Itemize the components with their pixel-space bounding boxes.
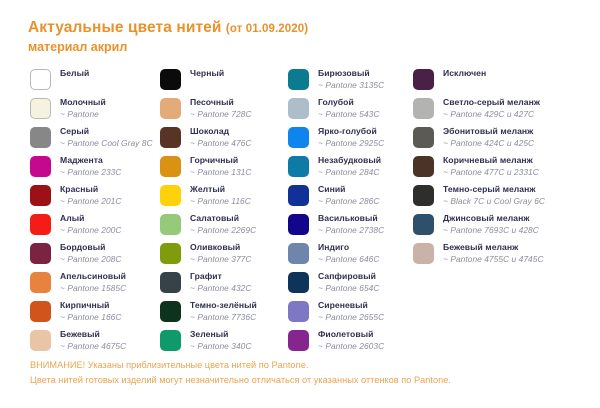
color-column-2: ЧерныйПесочный~ Pantone 728CШоколад~ Pan…	[160, 68, 288, 358]
color-pantone-code: ~ Pantone 432C	[190, 283, 251, 294]
color-swatch	[413, 69, 434, 90]
color-row: Белый	[30, 68, 160, 97]
color-labels: Песочный~ Pantone 728C	[190, 97, 251, 120]
color-swatch	[160, 185, 181, 206]
color-swatch	[30, 156, 51, 177]
color-column-1: БелыйМолочный~ Pantone Серый~ Pantone Co…	[0, 68, 160, 358]
color-pantone-code: ~ Pantone 340C	[190, 341, 251, 352]
color-row: Молочный~ Pantone	[30, 97, 160, 126]
color-row: Черный	[160, 68, 288, 97]
color-labels: Сапфировый~ Pantone 654C	[318, 271, 379, 294]
color-name: Бирюзовый	[318, 68, 384, 79]
color-swatch	[413, 243, 434, 264]
color-swatch	[160, 243, 181, 264]
color-row: Горчичный~ Pantone 131C	[160, 155, 288, 184]
color-swatch	[413, 98, 434, 119]
color-row: Сиреневый~ Pantone 2655C	[288, 300, 413, 329]
color-row: Бежевый~ Pantone 4675C	[30, 329, 160, 358]
color-row: Серый~ Pantone Cool Gray 8C	[30, 126, 160, 155]
color-pantone-code: ~ Pantone 429C и 427C	[443, 109, 540, 120]
color-swatch	[288, 301, 309, 322]
color-row: Васильковый~ Pantone 2738C	[288, 213, 413, 242]
color-swatch	[30, 69, 51, 90]
color-labels: Ярко-голубой~ Pantone 2925C	[318, 126, 384, 149]
footer-line-1: ВНИМАНИЕ! Указаны приблизительные цвета …	[30, 358, 590, 373]
color-labels: Черный	[190, 68, 224, 79]
color-pantone-code: ~ Pantone 2269C	[190, 225, 256, 236]
page-title-main: Актуальные цвета нитей	[28, 19, 221, 36]
color-swatch	[288, 243, 309, 264]
color-pantone-code: ~ Pantone 3135C	[318, 80, 384, 91]
color-row: Желтый~ Pantone 116C	[160, 184, 288, 213]
color-swatch	[30, 272, 51, 293]
color-labels: Кирпичный~ Pantone 166C	[60, 300, 121, 323]
color-row: Синий~ Pantone 286C	[288, 184, 413, 213]
color-labels: Оливковый~ Pantone 377C	[190, 242, 251, 265]
color-column-4: ИсключенСветло-серый меланж~ Pantone 429…	[413, 68, 600, 271]
color-name: Исключен	[443, 68, 486, 79]
color-pantone-code: ~ Pantone 284C	[318, 167, 381, 178]
color-labels: Зеленый~ Pantone 340C	[190, 329, 251, 352]
color-name: Горчичный	[190, 155, 251, 166]
color-row: Красный~ Pantone 201C	[30, 184, 160, 213]
color-labels: Маджента~ Pantone 233C	[60, 155, 121, 178]
color-name: Бежевый меланж	[443, 242, 544, 253]
color-labels: Темно-серый меланж~ Black 7C и Cool Gray…	[443, 184, 545, 207]
color-name: Оливковый	[190, 242, 251, 253]
color-row: Темно-серый меланж~ Black 7C и Cool Gray…	[413, 184, 600, 213]
color-labels: Красный~ Pantone 201C	[60, 184, 121, 207]
color-row: Индиго~ Pantone 646C	[288, 242, 413, 271]
color-swatch	[288, 127, 309, 148]
color-swatch	[30, 214, 51, 235]
color-swatch	[413, 156, 434, 177]
color-pantone-code: ~ Pantone 2925C	[318, 138, 384, 149]
color-name: Маджента	[60, 155, 121, 166]
page-title: Актуальные цвета нитей (от 01.09.2020)	[28, 18, 588, 38]
color-swatch	[288, 330, 309, 351]
color-pantone-code: ~ Pantone 201C	[60, 196, 121, 207]
color-row: Маджента~ Pantone 233C	[30, 155, 160, 184]
color-name: Апельсиновый	[60, 271, 126, 282]
color-pantone-code: ~ Pantone 4675C	[60, 341, 126, 352]
color-pantone-code: ~ Pantone 116C	[190, 196, 251, 207]
color-name: Индиго	[318, 242, 379, 253]
color-labels: Шоколад~ Pantone 476C	[190, 126, 251, 149]
color-labels: Бежевый~ Pantone 4675C	[60, 329, 126, 352]
color-name: Черный	[190, 68, 224, 79]
color-row: Фиолетовый~ Pantone 2603C	[288, 329, 413, 358]
color-row: Коричневый меланж~ Pantone 477C и 2331C	[413, 155, 600, 184]
color-labels: Коричневый меланж~ Pantone 477C и 2331C	[443, 155, 539, 178]
color-swatch	[288, 98, 309, 119]
color-name: Джинсовый меланж	[443, 213, 539, 224]
color-name: Голубой	[318, 97, 379, 108]
color-pantone-code: ~ Pantone 476C	[190, 138, 251, 149]
color-row: Эбонитовый меланж~ Pantone 424C и 425C	[413, 126, 600, 155]
color-row: Графит~ Pantone 432C	[160, 271, 288, 300]
color-pantone-code: ~ Pantone 2603C	[318, 341, 384, 352]
color-name: Синий	[318, 184, 379, 195]
color-row: Апельсиновый~ Pantone 1585C	[30, 271, 160, 300]
color-pantone-code: ~ Pantone 208C	[60, 254, 121, 265]
color-pantone-code: ~ Pantone 200C	[60, 225, 121, 236]
color-row: Бордовый~ Pantone 208C	[30, 242, 160, 271]
color-name: Песочный	[190, 97, 251, 108]
color-row: Оливковый~ Pantone 377C	[160, 242, 288, 271]
color-swatch	[160, 214, 181, 235]
color-swatch	[30, 243, 51, 264]
color-row: Голубой~ Pantone 543C	[288, 97, 413, 126]
color-name: Незабудковый	[318, 155, 381, 166]
color-pantone-code: ~ Pantone 1585C	[60, 283, 126, 294]
color-columns: БелыйМолочный~ Pantone Серый~ Pantone Co…	[0, 68, 600, 358]
color-pantone-code: ~ Pantone Cool Gray 8C	[60, 138, 153, 149]
color-name: Графит	[190, 271, 251, 282]
color-labels: Васильковый~ Pantone 2738C	[318, 213, 384, 236]
color-name: Белый	[60, 68, 89, 79]
color-labels: Джинсовый меланж~ Pantone 7693C и 428C	[443, 213, 539, 236]
color-column-3: Бирюзовый~ Pantone 3135CГолубой~ Pantone…	[288, 68, 413, 358]
color-labels: Сиреневый~ Pantone 2655C	[318, 300, 384, 323]
color-swatch	[30, 301, 51, 322]
color-swatch	[30, 185, 51, 206]
color-labels: Незабудковый~ Pantone 284C	[318, 155, 381, 178]
color-pantone-code: ~ Pantone 7736C	[190, 312, 257, 323]
color-row: Бирюзовый~ Pantone 3135C	[288, 68, 413, 97]
color-row: Бежевый меланж~ Pantone 4755C и 4745C	[413, 242, 600, 271]
color-chart-page: Актуальные цвета нитей (от 01.09.2020) м…	[0, 0, 600, 408]
color-pantone-code: ~ Pantone 166C	[60, 312, 121, 323]
page-title-date: (от 01.09.2020)	[226, 23, 308, 35]
color-name: Фиолетовый	[318, 329, 384, 340]
color-labels: Салатовый~ Pantone 2269C	[190, 213, 256, 236]
color-name: Ярко-голубой	[318, 126, 384, 137]
color-name: Красный	[60, 184, 121, 195]
color-name: Сиреневый	[318, 300, 384, 311]
color-name: Темно-зелёный	[190, 300, 257, 311]
color-row: Ярко-голубой~ Pantone 2925C	[288, 126, 413, 155]
color-row: Шоколад~ Pantone 476C	[160, 126, 288, 155]
color-name: Бежевый	[60, 329, 126, 340]
color-swatch	[413, 214, 434, 235]
color-row: Кирпичный~ Pantone 166C	[30, 300, 160, 329]
color-labels: Графит~ Pantone 432C	[190, 271, 251, 294]
color-row: Незабудковый~ Pantone 284C	[288, 155, 413, 184]
color-labels: Серый~ Pantone Cool Gray 8C	[60, 126, 153, 149]
color-pantone-code: ~ Pantone 286C	[318, 196, 379, 207]
footer-line-2: Цвета нитей готовых изделий могут незнач…	[30, 373, 590, 388]
color-pantone-code: ~ Black 7C и Cool Gray 6C	[443, 196, 545, 207]
color-name: Серый	[60, 126, 153, 137]
color-name: Темно-серый меланж	[443, 184, 545, 195]
color-labels: Светло-серый меланж~ Pantone 429C и 427C	[443, 97, 540, 120]
color-pantone-code: ~ Pantone	[60, 109, 106, 120]
color-pantone-code: ~ Pantone 477C и 2331C	[443, 167, 539, 178]
color-pantone-code: ~ Pantone 424C и 425C	[443, 138, 534, 149]
color-pantone-code: ~ Pantone 4755C и 4745C	[443, 254, 544, 265]
color-name: Коричневый меланж	[443, 155, 539, 166]
color-name: Сапфировый	[318, 271, 379, 282]
color-name: Васильковый	[318, 213, 384, 224]
color-labels: Бирюзовый~ Pantone 3135C	[318, 68, 384, 91]
color-name: Молочный	[60, 97, 106, 108]
color-name: Салатовый	[190, 213, 256, 224]
color-swatch	[288, 156, 309, 177]
color-pantone-code: ~ Pantone 2738C	[318, 225, 384, 236]
color-pantone-code: ~ Pantone 654C	[318, 283, 379, 294]
color-swatch	[413, 127, 434, 148]
color-labels: Фиолетовый~ Pantone 2603C	[318, 329, 384, 352]
color-swatch	[288, 69, 309, 90]
color-name: Алый	[60, 213, 121, 224]
color-pantone-code: ~ Pantone 7693C и 428C	[443, 225, 539, 236]
color-swatch	[160, 330, 181, 351]
color-row: Алый~ Pantone 200C	[30, 213, 160, 242]
color-row: Джинсовый меланж~ Pantone 7693C и 428C	[413, 213, 600, 242]
color-labels: Апельсиновый~ Pantone 1585C	[60, 271, 126, 294]
color-labels: Синий~ Pantone 286C	[318, 184, 379, 207]
page-header: Актуальные цвета нитей (от 01.09.2020) м…	[28, 18, 588, 56]
color-swatch	[160, 301, 181, 322]
color-labels: Алый~ Pantone 200C	[60, 213, 121, 236]
footer-note: ВНИМАНИЕ! Указаны приблизительные цвета …	[30, 358, 590, 388]
color-pantone-code: ~ Pantone 131C	[190, 167, 251, 178]
color-swatch	[288, 272, 309, 293]
color-labels: Бежевый меланж~ Pantone 4755C и 4745C	[443, 242, 544, 265]
color-swatch	[160, 272, 181, 293]
color-row: Песочный~ Pantone 728C	[160, 97, 288, 126]
color-swatch	[30, 330, 51, 351]
color-swatch	[413, 185, 434, 206]
color-name: Зеленый	[190, 329, 251, 340]
color-swatch	[288, 185, 309, 206]
color-pantone-code: ~ Pantone 543C	[318, 109, 379, 120]
color-row: Исключен	[413, 68, 600, 97]
color-labels: Белый	[60, 68, 89, 79]
color-swatch	[160, 69, 181, 90]
color-pantone-code: ~ Pantone 377C	[190, 254, 251, 265]
color-pantone-code: ~ Pantone 233C	[60, 167, 121, 178]
color-row: Зеленый~ Pantone 340C	[160, 329, 288, 358]
color-name: Светло-серый меланж	[443, 97, 540, 108]
color-labels: Темно-зелёный~ Pantone 7736C	[190, 300, 257, 323]
color-name: Желтый	[190, 184, 251, 195]
color-row: Сапфировый~ Pantone 654C	[288, 271, 413, 300]
color-name: Шоколад	[190, 126, 251, 137]
color-name: Бордовый	[60, 242, 121, 253]
color-row: Темно-зелёный~ Pantone 7736C	[160, 300, 288, 329]
color-swatch	[288, 214, 309, 235]
color-labels: Горчичный~ Pantone 131C	[190, 155, 251, 178]
color-labels: Молочный~ Pantone	[60, 97, 106, 120]
color-name: Эбонитовый меланж	[443, 126, 534, 137]
color-labels: Бордовый~ Pantone 208C	[60, 242, 121, 265]
color-row: Светло-серый меланж~ Pantone 429C и 427C	[413, 97, 600, 126]
color-swatch	[30, 127, 51, 148]
color-swatch	[160, 98, 181, 119]
color-labels: Эбонитовый меланж~ Pantone 424C и 425C	[443, 126, 534, 149]
color-labels: Индиго~ Pantone 646C	[318, 242, 379, 265]
page-subtitle: материал акрил	[28, 39, 588, 55]
color-swatch	[30, 98, 51, 119]
color-labels: Голубой~ Pantone 543C	[318, 97, 379, 120]
color-swatch	[160, 127, 181, 148]
color-name: Кирпичный	[60, 300, 121, 311]
color-pantone-code: ~ Pantone 2655C	[318, 312, 384, 323]
color-swatch	[160, 156, 181, 177]
color-row: Салатовый~ Pantone 2269C	[160, 213, 288, 242]
color-pantone-code: ~ Pantone 646C	[318, 254, 379, 265]
color-labels: Исключен	[443, 68, 486, 79]
color-pantone-code: ~ Pantone 728C	[190, 109, 251, 120]
color-labels: Желтый~ Pantone 116C	[190, 184, 251, 207]
